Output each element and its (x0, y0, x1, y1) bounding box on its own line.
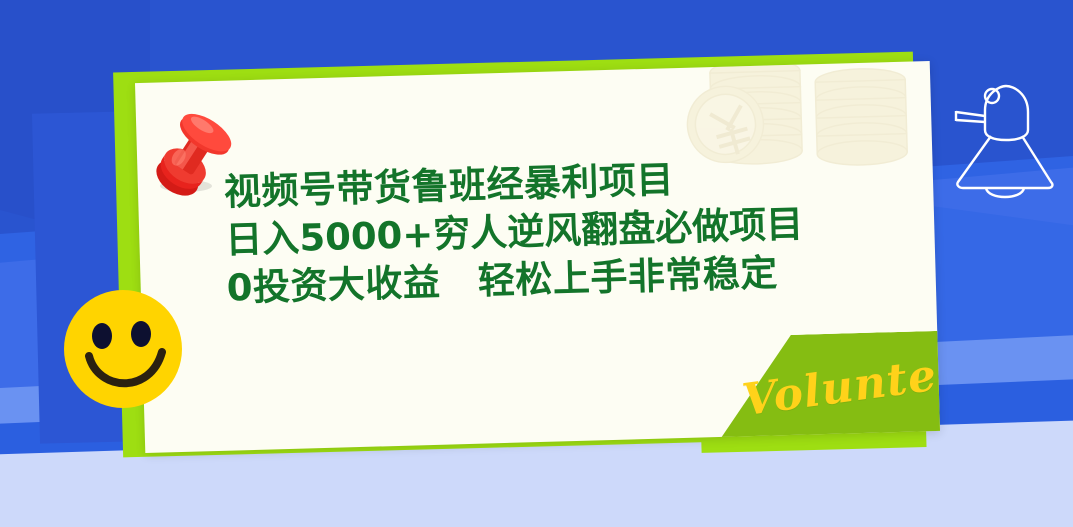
poster-canvas: 视频号带货鲁班经暴利项目 日入5000+穷人逆风翻盘必做项目 0投资大收益 轻松… (0, 0, 1073, 527)
poster-card-inner: 视频号带货鲁班经暴利项目 日入5000+穷人逆风翻盘必做项目 0投资大收益 轻松… (135, 61, 940, 453)
smiley-face-icon (62, 288, 184, 410)
pushpin-icon (152, 96, 244, 196)
poster-card: 视频号带货鲁班经暴利项目 日入5000+穷人逆风翻盘必做项目 0投资大收益 轻松… (135, 61, 940, 453)
lamp-outline-icon (944, 72, 1064, 202)
headline-block: 视频号带货鲁班经暴利项目 日入5000+穷人逆风翻盘必做项目 0投资大收益 轻松… (223, 149, 917, 312)
